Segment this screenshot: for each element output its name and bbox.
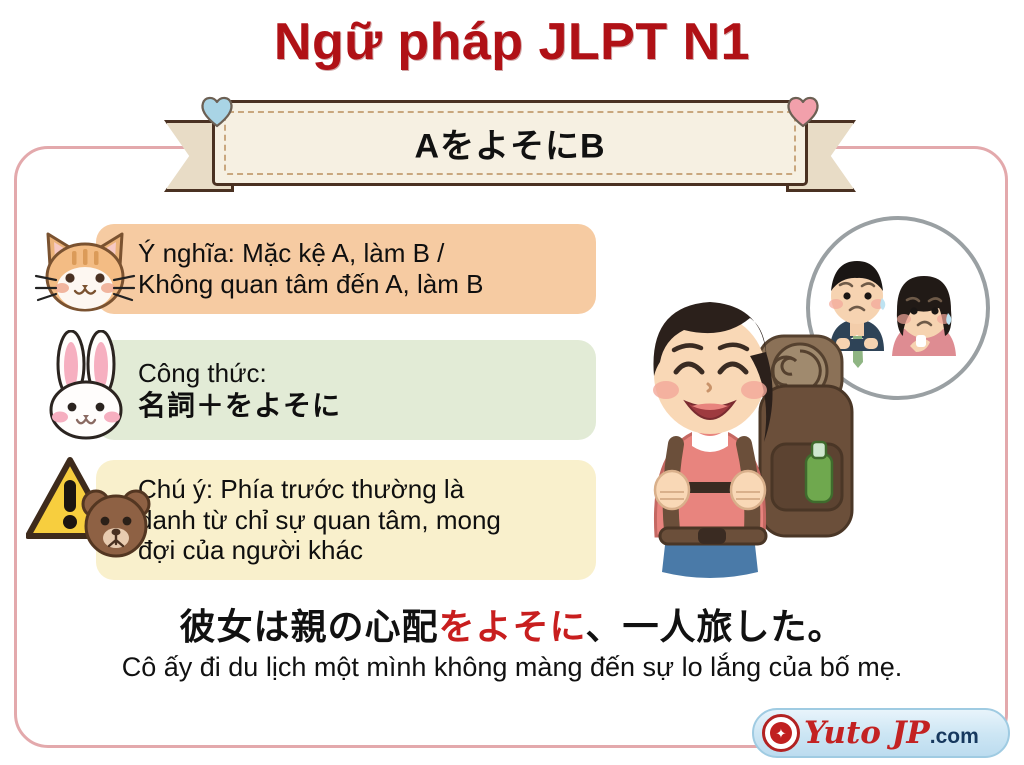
note-line-3: đợi của người khác xyxy=(138,535,578,566)
logo-tld: .com xyxy=(930,725,979,748)
japanese-example-sentence: 彼女は親の心配をよそに、一人旅した。 xyxy=(0,598,1024,650)
backpack xyxy=(758,336,852,536)
target-icon: ✦ xyxy=(762,714,800,752)
formula-value: 名詞＋をよそに xyxy=(138,389,578,422)
meaning-line-1: Ý nghĩa: Mặc kệ A, làm B / xyxy=(138,238,578,269)
site-logo[interactable]: ✦ Yuto JP.com xyxy=(752,708,1010,758)
meaning-box: Ý nghĩa: Mặc kệ A, làm B / Không quan tâ… xyxy=(96,224,596,314)
rabbit-icon xyxy=(38,330,134,442)
heart-icon-blue xyxy=(200,96,234,128)
heart-icon-pink xyxy=(786,96,820,128)
page-title: Ngữ pháp JLPT N1 xyxy=(0,12,1024,72)
girl-figure xyxy=(653,302,773,578)
japanese-example-suffix: 、一人旅した。 xyxy=(585,606,844,647)
formula-box: Công thức: 名詞＋をよそに xyxy=(96,340,596,440)
infographic-page: Ngữ pháp JLPT N1 AをよそにB Ý nghĩa: Mặc kệ … xyxy=(0,0,1024,765)
cat-icon xyxy=(34,222,142,318)
formula-label: Công thức: xyxy=(138,358,578,389)
vietnamese-translation: Cô ấy đi du lịch một mình không màng đến… xyxy=(0,652,1024,683)
mother-figure xyxy=(892,276,956,356)
note-line-2: danh từ chỉ sự quan tâm, mong xyxy=(138,505,578,536)
grammar-banner: AをよそにB xyxy=(160,100,860,196)
japanese-example-highlight: をよそに xyxy=(439,606,586,647)
target-icon-center: ✦ xyxy=(770,722,792,744)
grammar-pattern-label: AをよそにB xyxy=(215,119,805,168)
ribbon-body: AをよそにB xyxy=(212,100,808,186)
japanese-example-prefix: 彼女は親の心配 xyxy=(180,606,439,647)
note-box: Chú ý: Phía trước thường là danh từ chỉ … xyxy=(96,460,596,580)
warning-bear-icon xyxy=(26,452,156,564)
meaning-line-2: Không quan tâm đến A, làm B xyxy=(138,269,578,300)
logo-brand-name: Yuto JP xyxy=(804,715,930,751)
illustration-girl-backpacker xyxy=(620,206,1010,596)
note-line-1: Chú ý: Phía trước thường là xyxy=(138,474,578,505)
logo-brand: Yuto JP.com xyxy=(804,715,979,751)
